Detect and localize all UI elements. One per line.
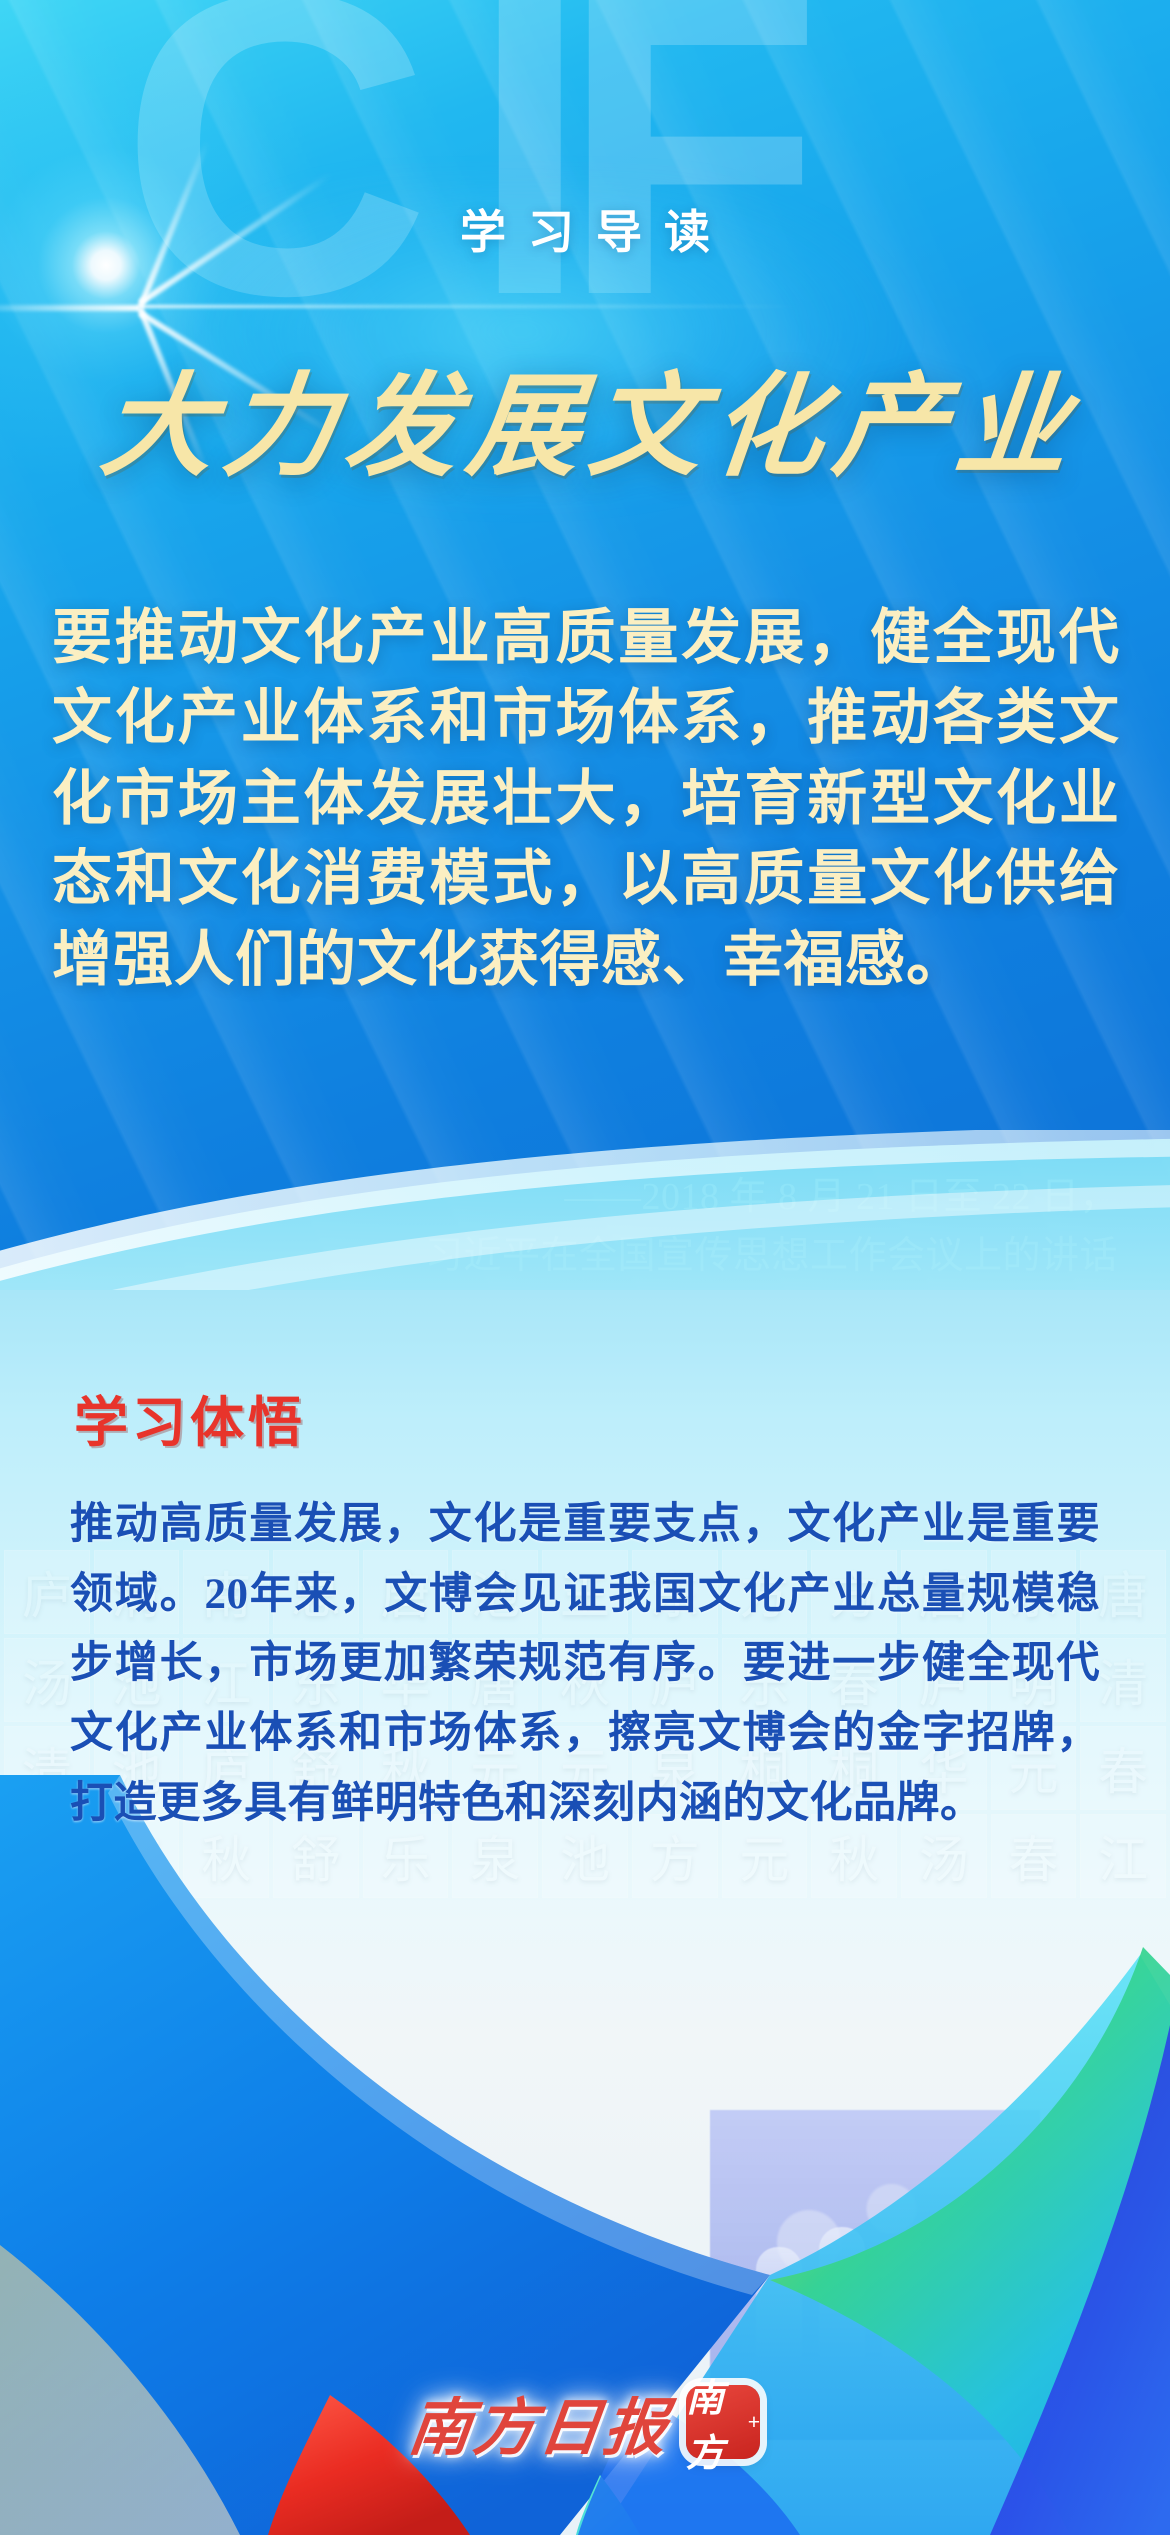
light-ray [140, 305, 800, 308]
nanfang-plus-app-icon[interactable]: 南方+ [686, 2385, 760, 2459]
app-badge-plus: + [747, 2409, 760, 2435]
eyebrow-label: 学习导读 [0, 196, 1170, 262]
section-heading-reflection: 学习体悟 [74, 1378, 306, 1457]
page-title: 大力发展文化产业 [0, 372, 1170, 484]
quote-text: 要推动文化产业高质量发展，健全现代文化产业体系和市场体系，推动各类文化市场主体发… [52, 598, 1120, 1000]
brand-name-nanfang-daily: 南方日报 [404, 2377, 675, 2467]
footer-branding: 南方日报 南方+ [0, 2377, 1170, 2467]
reflection-body-text: 推动高质量发展，文化是重要支点，文化产业是重要领域。20年来，文博会见证我国文化… [70, 1490, 1100, 1838]
app-badge-label: 南方 [686, 2367, 746, 2477]
top-hero-section: C I F 学习导读 大力发展文化产业 要推动文化产业高质量发展，健全现代文化产… [0, 0, 1170, 1310]
light-ray [0, 305, 140, 311]
poster-root: C I F 学习导读 大力发展文化产业 要推动文化产业高质量发展，健全现代文化产… [0, 0, 1170, 2535]
